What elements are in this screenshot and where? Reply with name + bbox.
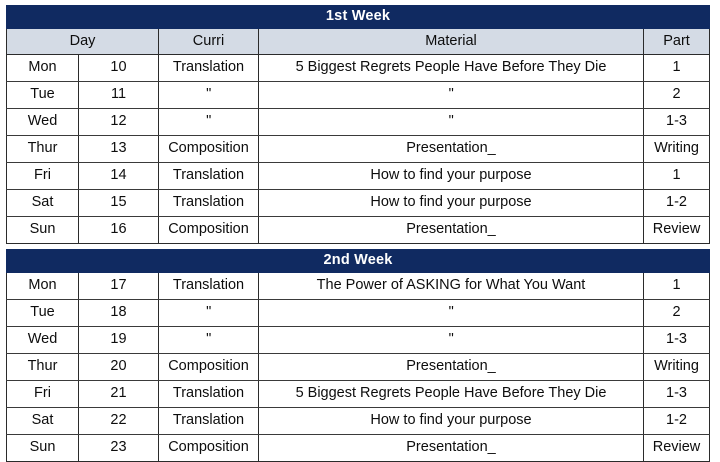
- cell-curri: Composition: [159, 136, 259, 163]
- week-2-banner-row: 2nd Week: [7, 250, 710, 273]
- cell-date: 15: [79, 190, 159, 217]
- cell-date: 10: [79, 55, 159, 82]
- column-header-row: Day Curri Material Part: [7, 29, 710, 55]
- week-2-banner-title: 2nd Week: [7, 250, 710, 273]
- cell-curri: ": [159, 82, 259, 109]
- cell-curri: Composition: [159, 354, 259, 381]
- cell-date: 19: [79, 327, 159, 354]
- week-block-2: 2nd Week Mon 17 Translation The Power of…: [6, 249, 709, 462]
- cell-material: The Power of ASKING for What You Want: [259, 273, 644, 300]
- column-header-day: Day: [7, 29, 159, 55]
- cell-date: 23: [79, 435, 159, 462]
- cell-material: ": [259, 327, 644, 354]
- table-row[interactable]: Fri 14 Translation How to find your purp…: [7, 163, 710, 190]
- table-row[interactable]: Mon 10 Translation 5 Biggest Regrets Peo…: [7, 55, 710, 82]
- cell-part: 1: [644, 55, 710, 82]
- cell-date: 20: [79, 354, 159, 381]
- cell-curri: Translation: [159, 55, 259, 82]
- cell-day: Mon: [7, 55, 79, 82]
- table-row[interactable]: Tue 18 " " 2: [7, 300, 710, 327]
- cell-date: 16: [79, 217, 159, 244]
- cell-part: 1: [644, 163, 710, 190]
- table-row[interactable]: Thur 20 Composition Presentation_ Writin…: [7, 354, 710, 381]
- cell-curri: Translation: [159, 408, 259, 435]
- cell-day: Tue: [7, 300, 79, 327]
- cell-day: Wed: [7, 109, 79, 136]
- cell-material: ": [259, 109, 644, 136]
- cell-part: Writing: [644, 136, 710, 163]
- cell-part: 1-3: [644, 381, 710, 408]
- cell-curri: Translation: [159, 163, 259, 190]
- cell-curri: Composition: [159, 217, 259, 244]
- cell-curri: ": [159, 327, 259, 354]
- table-row[interactable]: Sun 23 Composition Presentation_ Review: [7, 435, 710, 462]
- table-row[interactable]: Mon 17 Translation The Power of ASKING f…: [7, 273, 710, 300]
- cell-part: Review: [644, 217, 710, 244]
- cell-material: Presentation_: [259, 354, 644, 381]
- cell-curri: ": [159, 109, 259, 136]
- cell-material: 5 Biggest Regrets People Have Before The…: [259, 55, 644, 82]
- table-row[interactable]: Wed 12 " " 1-3: [7, 109, 710, 136]
- cell-date: 14: [79, 163, 159, 190]
- column-header-curri: Curri: [159, 29, 259, 55]
- week-1-body: 1st Week Day Curri Material Part Mon 10 …: [7, 6, 710, 244]
- cell-part: 1-2: [644, 408, 710, 435]
- cell-day: Tue: [7, 82, 79, 109]
- cell-day: Thur: [7, 136, 79, 163]
- cell-part: Writing: [644, 354, 710, 381]
- week-block-1: 1st Week Day Curri Material Part Mon 10 …: [6, 5, 709, 244]
- cell-day: Sun: [7, 435, 79, 462]
- week-1-banner-row: 1st Week: [7, 6, 710, 29]
- week-table-1: 1st Week Day Curri Material Part Mon 10 …: [6, 5, 710, 244]
- cell-curri: Translation: [159, 381, 259, 408]
- cell-part: Review: [644, 435, 710, 462]
- cell-day: Fri: [7, 381, 79, 408]
- cell-part: 2: [644, 82, 710, 109]
- table-row[interactable]: Sat 15 Translation How to find your purp…: [7, 190, 710, 217]
- cell-day: Thur: [7, 354, 79, 381]
- cell-material: Presentation_: [259, 136, 644, 163]
- column-header-part: Part: [644, 29, 710, 55]
- cell-date: 18: [79, 300, 159, 327]
- table-row[interactable]: Wed 19 " " 1-3: [7, 327, 710, 354]
- cell-day: Sat: [7, 408, 79, 435]
- cell-date: 17: [79, 273, 159, 300]
- cell-curri: Composition: [159, 435, 259, 462]
- week-2-body: 2nd Week Mon 17 Translation The Power of…: [7, 250, 710, 462]
- table-row[interactable]: Tue 11 " " 2: [7, 82, 710, 109]
- cell-date: 11: [79, 82, 159, 109]
- cell-material: 5 Biggest Regrets People Have Before The…: [259, 381, 644, 408]
- cell-material: ": [259, 300, 644, 327]
- cell-material: Presentation_: [259, 217, 644, 244]
- schedule-sheet: 1st Week Day Curri Material Part Mon 10 …: [0, 0, 720, 454]
- week-1-banner-title: 1st Week: [7, 6, 710, 29]
- cell-date: 22: [79, 408, 159, 435]
- table-row[interactable]: Sat 22 Translation How to find your purp…: [7, 408, 710, 435]
- cell-date: 13: [79, 136, 159, 163]
- cell-material: How to find your purpose: [259, 190, 644, 217]
- table-row[interactable]: Sun 16 Composition Presentation_ Review: [7, 217, 710, 244]
- cell-curri: Translation: [159, 190, 259, 217]
- table-row[interactable]: Fri 21 Translation 5 Biggest Regrets Peo…: [7, 381, 710, 408]
- cell-part: 2: [644, 300, 710, 327]
- cell-day: Sun: [7, 217, 79, 244]
- table-row[interactable]: Thur 13 Composition Presentation_ Writin…: [7, 136, 710, 163]
- cell-day: Wed: [7, 327, 79, 354]
- column-header-material: Material: [259, 29, 644, 55]
- cell-date: 21: [79, 381, 159, 408]
- cell-part: 1-3: [644, 109, 710, 136]
- cell-date: 12: [79, 109, 159, 136]
- cell-material: Presentation_: [259, 435, 644, 462]
- cell-curri: Translation: [159, 273, 259, 300]
- cell-material: ": [259, 82, 644, 109]
- cell-curri: ": [159, 300, 259, 327]
- cell-part: 1: [644, 273, 710, 300]
- cell-day: Sat: [7, 190, 79, 217]
- cell-part: 1-2: [644, 190, 710, 217]
- cell-day: Fri: [7, 163, 79, 190]
- week-table-2: 2nd Week Mon 17 Translation The Power of…: [6, 249, 710, 462]
- cell-day: Mon: [7, 273, 79, 300]
- cell-material: How to find your purpose: [259, 408, 644, 435]
- cell-material: How to find your purpose: [259, 163, 644, 190]
- cell-part: 1-3: [644, 327, 710, 354]
